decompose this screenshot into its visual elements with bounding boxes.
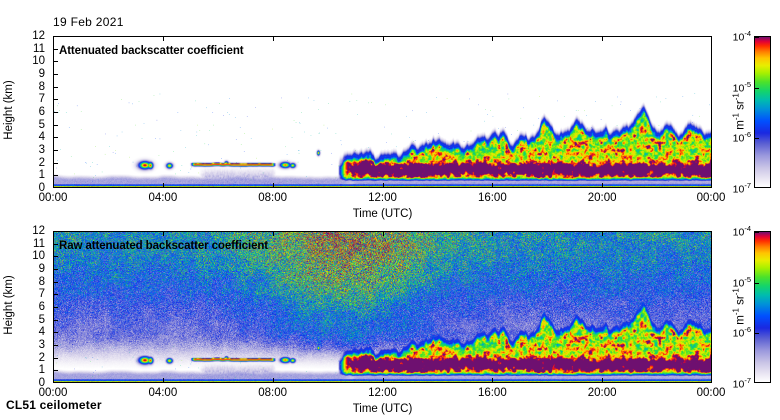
y-tick-mark bbox=[53, 332, 58, 333]
x-tick-label: 12:00 bbox=[368, 387, 397, 399]
colorbar-tick-mark bbox=[755, 283, 759, 284]
plot-area-attenuated-backscatter[interactable] bbox=[53, 36, 712, 188]
x-tick-mark bbox=[273, 183, 274, 188]
colorbar-tick-label: 10-7 bbox=[733, 376, 751, 391]
y-tick-label: 10 bbox=[32, 250, 45, 262]
y-tick-label: 3 bbox=[39, 144, 45, 156]
x-tick-label: 00:00 bbox=[39, 192, 68, 204]
x-tick-mark bbox=[602, 378, 603, 383]
y-tick-label: 11 bbox=[33, 238, 45, 250]
x-tick-mark bbox=[492, 183, 493, 188]
x-tick-label: 16:00 bbox=[478, 192, 507, 204]
x-tick-label: 08:00 bbox=[258, 387, 287, 399]
y-tick-mark bbox=[53, 256, 58, 257]
y-tick-mark bbox=[53, 74, 58, 75]
y-tick-mark bbox=[53, 125, 58, 126]
colorbar-tick-label: 10-6 bbox=[733, 130, 751, 145]
y-tick-label: 3 bbox=[39, 339, 45, 351]
y-tick-mark bbox=[53, 61, 58, 62]
y-axis-title-bottom: Height (km) bbox=[3, 265, 15, 345]
x-tick-mark bbox=[602, 183, 603, 188]
x-tick-label: 00:00 bbox=[697, 387, 726, 399]
x-tick-mark bbox=[711, 231, 712, 236]
y-tick-label: 6 bbox=[39, 106, 45, 118]
x-tick-mark bbox=[163, 183, 164, 188]
instrument-footer: CL51 ceilometer bbox=[6, 398, 102, 412]
colorbar-tick-label: 10-4 bbox=[733, 224, 751, 239]
x-tick-label: 20:00 bbox=[588, 387, 617, 399]
y-tick-mark bbox=[53, 370, 58, 371]
y-tick-label: 7 bbox=[39, 288, 45, 300]
y-tick-mark bbox=[53, 320, 58, 321]
y-tick-label: 1 bbox=[39, 364, 45, 376]
x-tick-label: 00:00 bbox=[697, 192, 726, 204]
x-axis-title-top: Time (UTC) bbox=[353, 208, 413, 220]
colorbar-top bbox=[754, 36, 771, 188]
colorbar-gradient-top bbox=[755, 37, 770, 187]
y-tick-mark bbox=[53, 87, 58, 88]
x-tick-mark bbox=[383, 36, 384, 41]
y-tick-label: 11 bbox=[33, 43, 45, 55]
y-tick-label: 9 bbox=[39, 263, 45, 275]
panel-attenuated-backscatter: Attenuated backscatter coefficient 01234… bbox=[53, 36, 712, 188]
x-tick-mark bbox=[711, 36, 712, 41]
y-axis-title-top: Height (km) bbox=[3, 70, 15, 150]
y-tick-label: 7 bbox=[39, 93, 45, 105]
x-tick-mark bbox=[492, 378, 493, 383]
y-tick-label: 6 bbox=[39, 301, 45, 313]
x-tick-mark bbox=[492, 36, 493, 41]
colorbar-bottom bbox=[754, 231, 771, 383]
date-header: 19 Feb 2021 bbox=[53, 15, 124, 29]
x-axis-title-bottom: Time (UTC) bbox=[353, 403, 413, 415]
y-tick-label: 12 bbox=[32, 30, 45, 42]
x-tick-mark bbox=[273, 378, 274, 383]
x-tick-mark bbox=[602, 36, 603, 41]
x-tick-mark bbox=[163, 231, 164, 236]
colorbar-tick-mark bbox=[755, 138, 759, 139]
x-tick-mark bbox=[711, 183, 712, 188]
y-tick-mark bbox=[53, 112, 58, 113]
x-tick-mark bbox=[383, 183, 384, 188]
y-tick-mark bbox=[53, 49, 58, 50]
y-tick-label: 10 bbox=[32, 55, 45, 67]
y-tick-mark bbox=[53, 163, 58, 164]
x-tick-mark bbox=[383, 231, 384, 236]
colorbar-tick-label: 10-6 bbox=[733, 325, 751, 340]
heatmap-attenuated-backscatter bbox=[54, 37, 711, 187]
x-tick-mark bbox=[53, 183, 54, 188]
panel-raw-attenuated-backscatter: Raw attenuated backscatter coefficient 0… bbox=[53, 231, 712, 383]
y-tick-label: 12 bbox=[32, 225, 45, 237]
x-tick-mark bbox=[163, 378, 164, 383]
x-tick-label: 04:00 bbox=[148, 387, 177, 399]
x-tick-mark bbox=[711, 378, 712, 383]
panel-title-attenuated-backscatter: Attenuated backscatter coefficient bbox=[59, 45, 244, 57]
x-tick-label: 00:00 bbox=[39, 387, 68, 399]
x-tick-mark bbox=[53, 231, 54, 236]
x-tick-mark bbox=[273, 36, 274, 41]
y-tick-label: 4 bbox=[39, 131, 45, 143]
y-tick-mark bbox=[53, 294, 58, 295]
y-tick-label: 8 bbox=[39, 276, 45, 288]
x-tick-mark bbox=[383, 378, 384, 383]
colorbar-tick-label: 10-7 bbox=[733, 181, 751, 196]
figure-root: 19 Feb 2021 Attenuated backscatter coeff… bbox=[0, 0, 780, 420]
x-tick-mark bbox=[53, 378, 54, 383]
y-tick-label: 2 bbox=[39, 352, 45, 364]
x-tick-mark bbox=[492, 231, 493, 236]
y-tick-mark bbox=[53, 358, 58, 359]
y-tick-label: 5 bbox=[39, 314, 45, 326]
y-tick-mark bbox=[53, 282, 58, 283]
x-tick-label: 16:00 bbox=[478, 387, 507, 399]
plot-area-raw-attenuated-backscatter[interactable] bbox=[53, 231, 712, 383]
y-tick-mark bbox=[53, 345, 58, 346]
panel-title-raw-attenuated-backscatter: Raw attenuated backscatter coefficient bbox=[59, 240, 268, 252]
y-tick-label: 9 bbox=[39, 68, 45, 80]
y-tick-label: 1 bbox=[39, 169, 45, 181]
y-tick-label: 2 bbox=[39, 157, 45, 169]
colorbar-tick-mark bbox=[755, 232, 759, 233]
colorbar-tick-mark bbox=[755, 37, 759, 38]
y-tick-label: 4 bbox=[39, 326, 45, 338]
y-tick-mark bbox=[53, 99, 58, 100]
colorbar-tick-label: 10-5 bbox=[733, 79, 751, 94]
y-tick-mark bbox=[53, 244, 58, 245]
x-tick-label: 20:00 bbox=[588, 192, 617, 204]
y-tick-mark bbox=[53, 269, 58, 270]
y-tick-mark bbox=[53, 150, 58, 151]
colorbar-gradient-bottom bbox=[755, 232, 770, 382]
colorbar-tick-mark bbox=[755, 333, 759, 334]
x-tick-label: 12:00 bbox=[368, 192, 397, 204]
y-tick-label: 8 bbox=[39, 81, 45, 93]
colorbar-tick-label: 10-4 bbox=[733, 29, 751, 44]
x-tick-mark bbox=[602, 231, 603, 236]
y-tick-mark bbox=[53, 137, 58, 138]
x-tick-label: 04:00 bbox=[148, 192, 177, 204]
colorbar-tick-label: 10-5 bbox=[733, 274, 751, 289]
x-tick-mark bbox=[53, 36, 54, 41]
x-tick-label: 08:00 bbox=[258, 192, 287, 204]
colorbar-tick-mark bbox=[755, 88, 759, 89]
x-tick-mark bbox=[273, 231, 274, 236]
y-tick-mark bbox=[53, 307, 58, 308]
y-tick-mark bbox=[53, 175, 58, 176]
heatmap-raw-attenuated-backscatter bbox=[54, 232, 711, 382]
y-tick-label: 5 bbox=[39, 119, 45, 131]
x-tick-mark bbox=[163, 36, 164, 41]
